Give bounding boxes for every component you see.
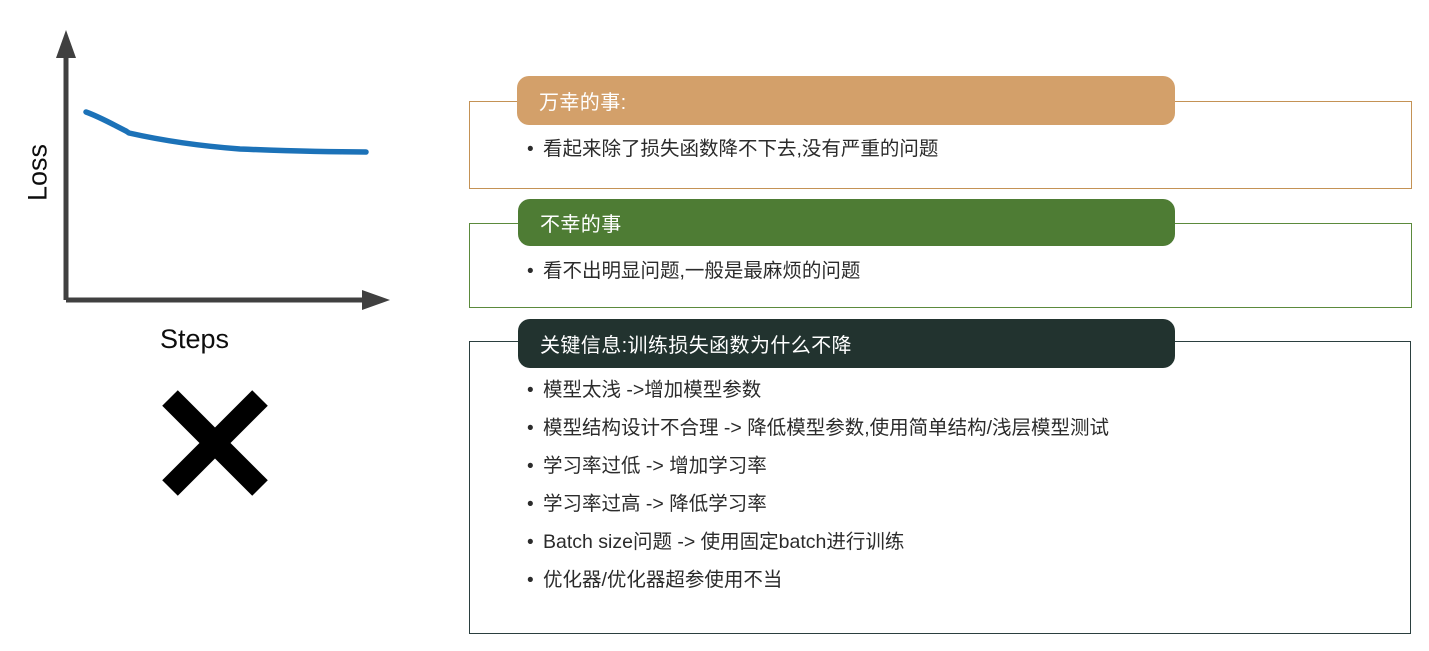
callout-header-key-info: 关键信息:训练损失函数为什么不降: [518, 319, 1175, 368]
list-item: • 模型太浅 ->增加模型参数: [527, 381, 1407, 401]
callout-header-unfortunate: 不幸的事: [518, 199, 1175, 246]
list-item-text: 模型太浅 ->增加模型参数: [543, 381, 761, 401]
bullet-glyph: •: [527, 262, 543, 281]
bullet-glyph: •: [527, 571, 543, 590]
list-item: • 看不出明显问题,一般是最麻烦的问题: [527, 262, 1407, 282]
y-axis-label: Loss: [23, 128, 54, 218]
loss-chart-svg: [0, 0, 450, 360]
list-item: • 模型结构设计不合理 -> 降低模型参数,使用简单结构/浅层模型测试: [527, 419, 1407, 439]
bullet-glyph: •: [527, 381, 543, 400]
list-item: • Batch size问题 -> 使用固定batch进行训练: [527, 533, 1407, 553]
list-item-text: 看起来除了损失函数降不下去,没有严重的问题: [543, 140, 938, 160]
list-item: • 优化器/优化器超参使用不当: [527, 571, 1407, 591]
list-item-text: 优化器/优化器超参使用不当: [543, 571, 782, 591]
callout-body-fortunate: • 看起来除了损失函数降不下去,没有严重的问题: [527, 140, 1407, 160]
callout-body-key-info: • 模型太浅 ->增加模型参数 • 模型结构设计不合理 -> 降低模型参数,使用…: [527, 381, 1407, 609]
bullet-glyph: •: [527, 495, 543, 514]
list-item-text: 学习率过低 -> 增加学习率: [543, 457, 767, 477]
list-item: • 学习率过高 -> 降低学习率: [527, 495, 1407, 515]
list-item-text: 学习率过高 -> 降低学习率: [543, 495, 767, 515]
callout-header-label-fortunate: 万幸的事:: [539, 86, 627, 115]
loss-curve-figure: Loss Steps: [0, 0, 450, 651]
callout-body-unfortunate: • 看不出明显问题,一般是最麻烦的问题: [527, 262, 1407, 282]
bullet-glyph: •: [527, 140, 543, 159]
list-item: • 学习率过低 -> 增加学习率: [527, 457, 1407, 477]
loss-curve-line: [86, 112, 366, 152]
callout-header-label-unfortunate: 不幸的事: [540, 208, 622, 237]
y-axis: [56, 30, 76, 300]
list-item-text: Batch size问题 -> 使用固定batch进行训练: [543, 533, 904, 553]
callout-header-label-key-info: 关键信息:训练损失函数为什么不降: [540, 329, 852, 358]
bullet-glyph: •: [527, 419, 543, 438]
x-axis-label: Steps: [160, 324, 229, 355]
list-item-text: 模型结构设计不合理 -> 降低模型参数,使用简单结构/浅层模型测试: [543, 419, 1109, 439]
callout-header-fortunate: 万幸的事:: [517, 76, 1175, 125]
list-item: • 看起来除了损失函数降不下去,没有严重的问题: [527, 140, 1407, 160]
list-item-text: 看不出明显问题,一般是最麻烦的问题: [543, 262, 860, 282]
x-mark-icon: [158, 386, 272, 500]
x-axis: [66, 290, 390, 310]
bullet-glyph: •: [527, 533, 543, 552]
bullet-glyph: •: [527, 457, 543, 476]
